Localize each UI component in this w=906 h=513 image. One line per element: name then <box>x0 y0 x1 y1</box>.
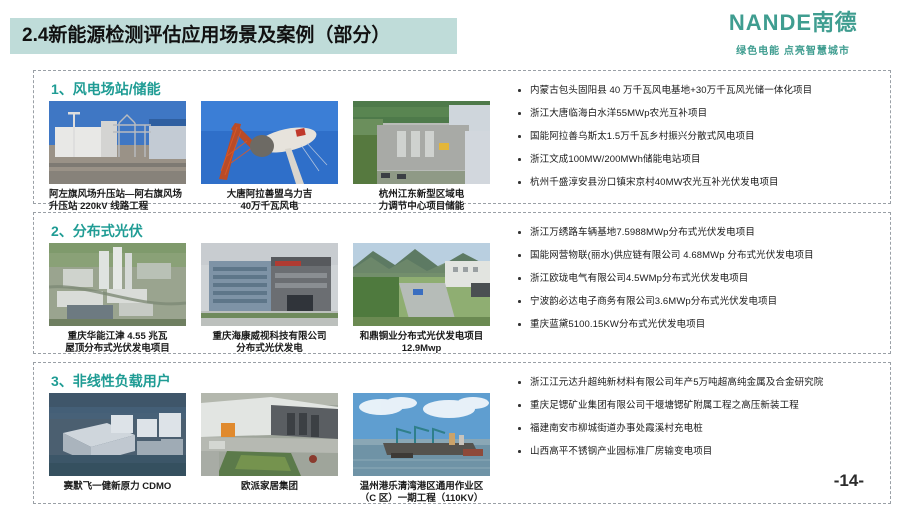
wind-turbine-photo <box>201 101 338 184</box>
list-item: 福建南安市柳城街道办事处霞溪村充电桩 <box>516 423 876 435</box>
bullet-list: 浙江江元达升超纯新材料有限公司年产5万吨超高纯金属及合金研究院 重庆足锶矿业集团… <box>516 377 876 458</box>
list-item: 浙江万绣路车辆基地7.5988MWp分布式光伏发电项目 <box>516 227 876 239</box>
list-item-text: 山西高平不锈钢产业园标准厂房输变电项目 <box>530 446 712 457</box>
bullet-dot-icon <box>518 381 521 384</box>
section-title: 2、分布式光伏 <box>51 221 143 241</box>
bullet-list: 浙江万绣路车辆基地7.5988MWp分布式光伏发电项目 国能网营物联(丽水)供应… <box>516 227 876 331</box>
company-logo: NANDE南德 绿色电能 点亮智慧城市 <box>698 10 888 57</box>
bullet-dot-icon <box>518 135 521 138</box>
section-title: 1、风电场站/储能 <box>51 79 161 99</box>
case-card[interactable]: 重庆华能江津 4.55 兆瓦屋顶分布式光伏发电项目 <box>49 243 186 355</box>
slide-canvas: 2.4新能源检测评估应用场景及案例（部分） NANDE南德 绿色电能 点亮智慧城… <box>0 0 906 513</box>
bullet-dot-icon <box>518 300 521 303</box>
heding-copper-campus-photo <box>353 243 490 326</box>
section-distributed-pv: 2、分布式光伏 <box>33 212 891 354</box>
card-caption: 和鼎铜业分布式光伏发电项目12.9Mwp <box>353 331 490 355</box>
bullet-dot-icon <box>518 404 521 407</box>
list-item-text: 浙江欧珑电气有限公司4.5WMp分布式光伏发电项目 <box>530 273 748 284</box>
card-caption: 欧派家居集团 <box>201 481 338 493</box>
huaneng-jiangjin-plant-photo <box>49 243 186 326</box>
card-caption: 杭州江东新型区域电力调节中心项目储能 <box>353 189 490 213</box>
bullet-dot-icon <box>518 450 521 453</box>
page-title: 2.4新能源检测评估应用场景及案例（部分） <box>22 20 462 52</box>
logo-wordmark-en: NANDE <box>729 10 812 35</box>
list-item-text: 浙江万绣路车辆基地7.5988MWp分布式光伏发电项目 <box>530 227 755 238</box>
list-item: 重庆蓝黛5100.15KW分布式光伏发电项目 <box>516 319 876 331</box>
list-item: 浙江大唐临海白水洋55MWp农光互补项目 <box>516 108 876 120</box>
bullet-dot-icon <box>518 89 521 92</box>
case-card[interactable]: 大唐阿拉善盟乌力吉40万千瓦风电 <box>201 101 338 213</box>
list-item: 宁波韵必达电子商务有限公司3.6MWp分布式光伏发电项目 <box>516 296 876 308</box>
case-card[interactable]: 重庆海康威视科技有限公司分布式光伏发电 <box>201 243 338 355</box>
logo-wordmark: NANDE南德 <box>698 10 888 36</box>
case-card[interactable]: 和鼎铜业分布式光伏发电项目12.9Mwp <box>353 243 490 355</box>
list-item: 国能网营物联(丽水)供应链有限公司 4.68MWp 分布式光伏发电项目 <box>516 250 876 262</box>
card-caption: 赛默飞一健新原力 CDMO <box>49 481 186 493</box>
bullet-dot-icon <box>518 277 521 280</box>
list-item: 杭州千盛淳安县汾口镇宋京村40MW农光互补光伏发电项目 <box>516 177 876 189</box>
hikvision-building-photo <box>201 243 338 326</box>
list-item: 浙江江元达升超纯新材料有限公司年产5万吨超高纯金属及合金研究院 <box>516 377 876 389</box>
logo-wordmark-cn: 南德 <box>812 10 857 35</box>
bullet-dot-icon <box>518 158 521 161</box>
bullet-dot-icon <box>518 323 521 326</box>
list-item-text: 浙江江元达升超纯新材料有限公司年产5万吨超高纯金属及合金研究院 <box>530 377 823 388</box>
case-card[interactable]: 阿左旗风场升压站—阿右旗风场升压站 220kV 线路工程 <box>49 101 186 213</box>
bullet-dot-icon <box>518 181 521 184</box>
case-card[interactable]: 赛默飞一健新原力 CDMO <box>49 393 186 493</box>
energy-storage-station-photo <box>353 101 490 184</box>
list-item-text: 重庆足锶矿业集团有限公司干堰塘锶矿附属工程之高压新装工程 <box>530 400 799 411</box>
card-caption: 重庆海康威视科技有限公司分布式光伏发电 <box>201 331 338 355</box>
card-caption: 大唐阿拉善盟乌力吉40万千瓦风电 <box>201 189 338 213</box>
case-card[interactable]: 温州港乐清湾港区通用作业区（C 区）一期工程（110KV） <box>353 393 490 505</box>
list-item-text: 福建南安市柳城街道办事处霞溪村充电桩 <box>530 423 703 434</box>
case-card[interactable]: 欧派家居集团 <box>201 393 338 493</box>
section-title: 3、非线性负载用户 <box>51 371 171 391</box>
list-item-text: 浙江大唐临海白水洋55MWp农光互补项目 <box>530 108 707 119</box>
bullet-dot-icon <box>518 254 521 257</box>
section-wind-power: 1、风电场站/储能 <box>33 70 891 204</box>
bullet-dot-icon <box>518 231 521 234</box>
list-item: 国能阿拉善乌斯太1.5万千瓦乡村振兴分散式风电项目 <box>516 131 876 143</box>
list-item-text: 浙江文成100MW/200MWh储能电站项目 <box>530 154 701 165</box>
list-item-text: 国能阿拉善乌斯太1.5万千瓦乡村振兴分散式风电项目 <box>530 131 755 142</box>
thermofisher-cdmo-photo <box>49 393 186 476</box>
bullet-dot-icon <box>518 112 521 115</box>
list-item: 浙江文成100MW/200MWh储能电站项目 <box>516 154 876 166</box>
logo-tagline: 绿色电能 点亮智慧城市 <box>698 42 888 57</box>
substation-photo <box>49 101 186 184</box>
list-item: 内蒙古包头固阳县 40 万千瓦风电基地+30万千瓦风光储一体化项目 <box>516 85 876 97</box>
card-caption: 重庆华能江津 4.55 兆瓦屋顶分布式光伏发电项目 <box>49 331 186 355</box>
section-nonlinear-load-users: 3、非线性负载用户 <box>33 362 891 504</box>
page-number: -14- <box>834 471 864 491</box>
card-caption: 阿左旗风场升压站—阿右旗风场升压站 220kV 线路工程 <box>49 189 186 213</box>
list-item-text: 宁波韵必达电子商务有限公司3.6MWp分布式光伏发电项目 <box>530 296 777 307</box>
list-item: 浙江欧珑电气有限公司4.5WMp分布式光伏发电项目 <box>516 273 876 285</box>
wenzhou-port-photo <box>353 393 490 476</box>
card-caption: 温州港乐清湾港区通用作业区（C 区）一期工程（110KV） <box>353 481 490 505</box>
case-card[interactable]: 杭州江东新型区域电力调节中心项目储能 <box>353 101 490 213</box>
oppein-group-photo <box>201 393 338 476</box>
bullet-list: 内蒙古包头固阳县 40 万千瓦风电基地+30万千瓦风光储一体化项目 浙江大唐临海… <box>516 85 876 189</box>
list-item-text: 杭州千盛淳安县汾口镇宋京村40MW农光互补光伏发电项目 <box>530 177 779 188</box>
list-item: 重庆足锶矿业集团有限公司干堰塘锶矿附属工程之高压新装工程 <box>516 400 876 412</box>
list-item-text: 内蒙古包头固阳县 40 万千瓦风电基地+30万千瓦风光储一体化项目 <box>530 85 812 96</box>
bullet-dot-icon <box>518 427 521 430</box>
list-item-text: 重庆蓝黛5100.15KW分布式光伏发电项目 <box>530 319 705 330</box>
list-item-text: 国能网营物联(丽水)供应链有限公司 4.68MWp 分布式光伏发电项目 <box>530 250 814 261</box>
list-item: 山西高平不锈钢产业园标准厂房输变电项目 <box>516 446 876 458</box>
